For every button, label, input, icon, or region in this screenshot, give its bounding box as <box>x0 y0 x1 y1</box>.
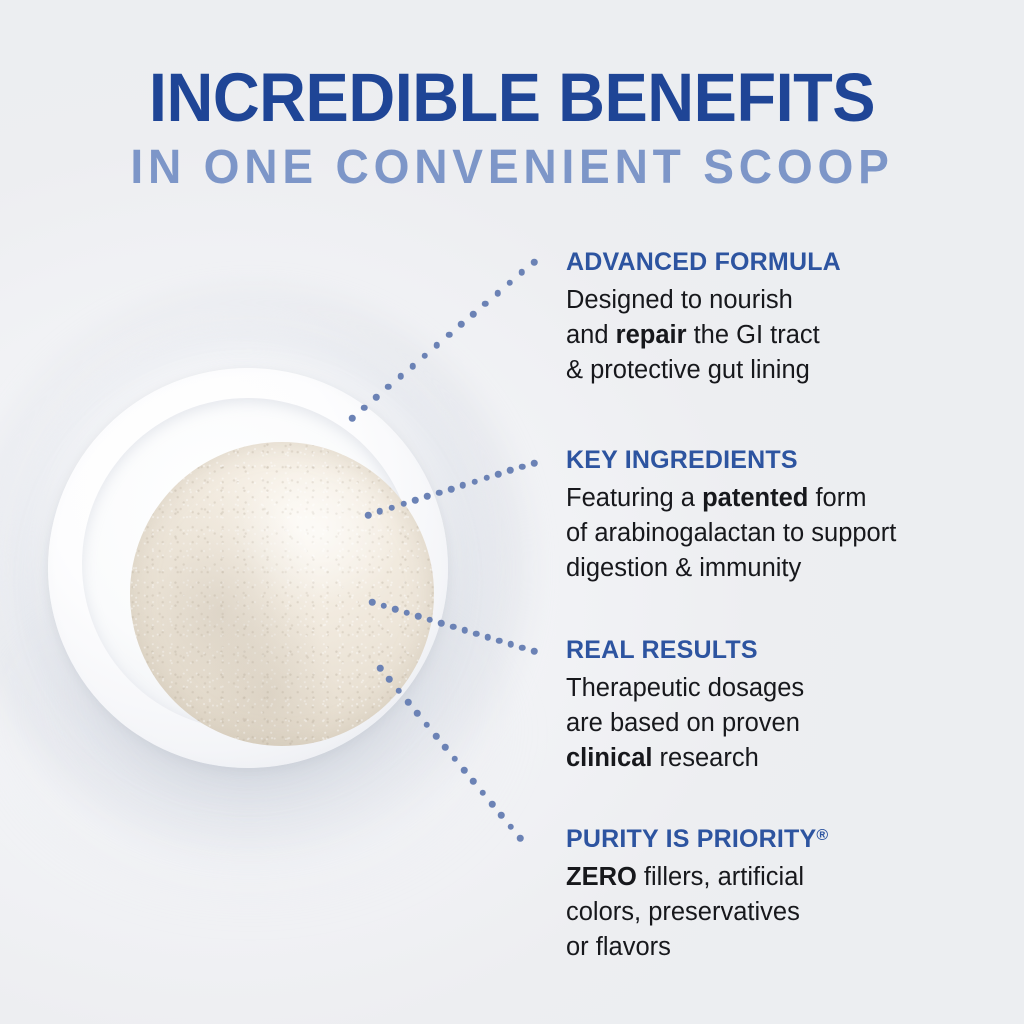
ceramic-bowl <box>48 368 448 768</box>
benefit-body: Therapeutic dosagesare based on provencl… <box>566 671 1006 776</box>
page-subtitle: IN ONE CONVENIENT SCOOP <box>20 142 1003 194</box>
benefit-advanced-formula: ADVANCED FORMULA Designed to nourishand … <box>566 248 1006 388</box>
benefit-text: form <box>808 484 866 512</box>
benefit-title: REAL RESULTS <box>566 636 1006 664</box>
benefit-real-results: REAL RESULTS Therapeutic dosagesare base… <box>566 636 1006 776</box>
benefit-emphasis: patented <box>702 484 808 512</box>
benefit-title: KEY INGREDIENTS <box>566 446 1006 474</box>
benefit-emphasis: repair <box>616 321 687 349</box>
benefit-text: Designed to nourish <box>566 286 793 314</box>
headline-block: INCREDIBLE BENEFITS IN ONE CONVENIENT SC… <box>0 62 1024 194</box>
benefit-body: Designed to nourishand repair the GI tra… <box>566 283 1006 388</box>
benefit-text: or flavors <box>566 933 671 961</box>
benefit-text: and <box>566 321 616 349</box>
product-photo <box>0 250 580 970</box>
benefit-text: Therapeutic dosages <box>566 674 804 702</box>
benefit-text: colors, preservatives <box>566 898 800 926</box>
benefit-text: fillers, artificial <box>637 863 804 891</box>
powder-mound-shading <box>130 442 434 746</box>
benefit-text: & protective gut lining <box>566 356 810 384</box>
benefit-title: ADVANCED FORMULA <box>566 248 1006 276</box>
benefit-body: ZERO fillers, artificialcolors, preserva… <box>566 860 1006 965</box>
benefit-text: research <box>652 744 758 772</box>
benefit-text: are based on proven <box>566 709 800 737</box>
powder-supplement <box>130 442 434 746</box>
benefit-text: Featuring a <box>566 484 702 512</box>
benefit-emphasis: clinical <box>566 744 652 772</box>
benefit-emphasis: ZERO <box>566 863 637 891</box>
benefit-text: digestion & immunity <box>566 554 801 582</box>
benefit-purity-is-priority: PURITY IS PRIORITY® ZERO fillers, artifi… <box>566 822 1006 965</box>
benefit-text: the GI tract <box>687 321 820 349</box>
infographic-canvas: INCREDIBLE BENEFITS IN ONE CONVENIENT SC… <box>0 0 1024 1024</box>
page-title: INCREDIBLE BENEFITS <box>31 62 994 134</box>
benefit-body: Featuring a patented formof arabinogalac… <box>566 481 1006 586</box>
benefit-text: of arabinogalactan to support <box>566 519 896 547</box>
benefit-key-ingredients: KEY INGREDIENTS Featuring a patented for… <box>566 446 1006 586</box>
registered-trademark-icon: ® <box>816 827 828 844</box>
benefit-title: PURITY IS PRIORITY® <box>566 822 1006 853</box>
bowl-inner-well <box>82 398 414 730</box>
